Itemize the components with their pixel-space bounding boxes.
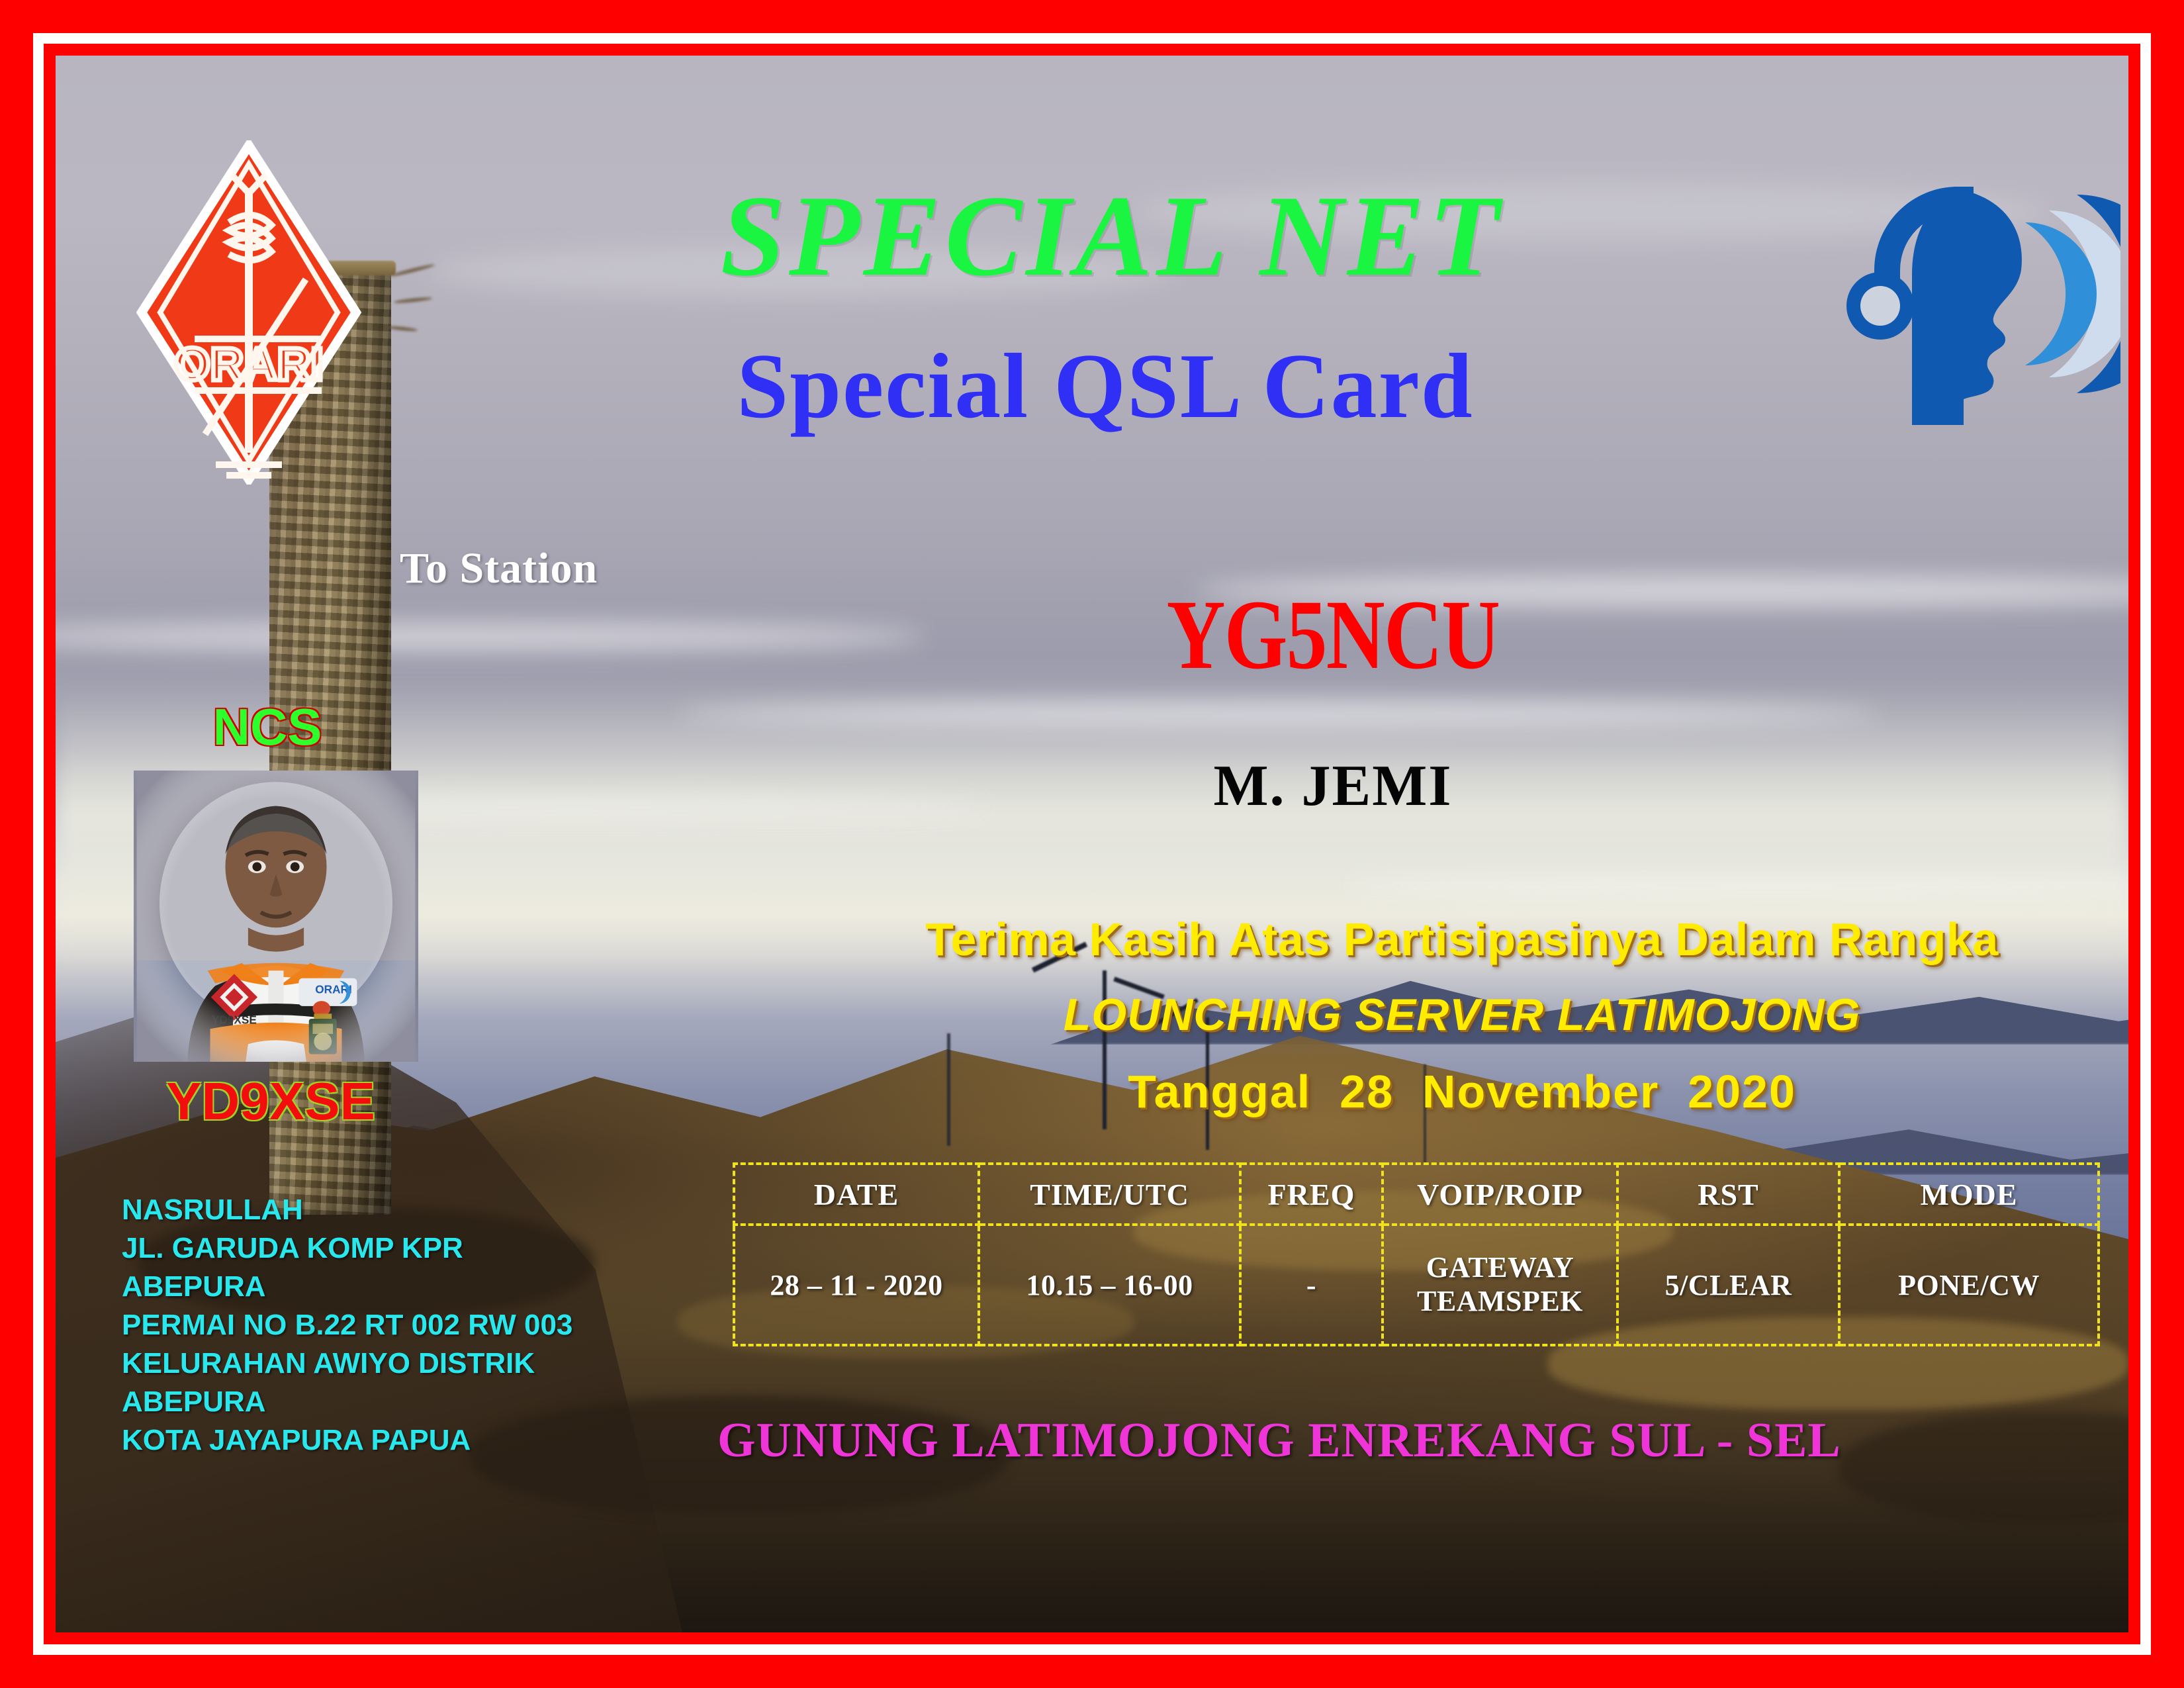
card-white-band: ORARI xyxy=(33,33,2151,1655)
address-line: KELURAHAN AWIYO DISTRIK xyxy=(122,1344,572,1383)
cloud-streak xyxy=(1341,876,2128,896)
qsl-card: ORARI xyxy=(0,0,2184,1688)
address-line: ABEPURA xyxy=(122,1268,572,1306)
cell-voip-roip: GATEWAY TEAMSPEK xyxy=(1383,1225,1617,1345)
cell-date: 28 – 11 - 2020 xyxy=(734,1225,979,1345)
mailing-address: NASRULLAH JL. GARUDA KOMP KPR ABEPURA PE… xyxy=(122,1191,572,1460)
th-time: TIME/UTC xyxy=(979,1164,1240,1225)
station-callsign: YG5NCU xyxy=(1089,585,1577,684)
th-voip-roip: VOIP/ROIP xyxy=(1383,1164,1617,1225)
thanks-line: Terima Kasih Atas Partisipasinya Dalam R… xyxy=(817,916,2107,962)
event-date-line: Tanggal 28 November 2020 xyxy=(817,1068,2107,1115)
operator-name: M. JEMI xyxy=(969,757,1697,816)
ncs-operator-photo: YD9XSE ORARI xyxy=(134,771,418,1062)
address-line: JL. GARUDA KOMP KPR xyxy=(122,1229,572,1268)
table-row: 28 – 11 - 2020 10.15 – 16-00 - GATEWAY T… xyxy=(734,1225,2099,1345)
qso-log-table: DATE TIME/UTC FREQ VOIP/ROIP RST MODE 28… xyxy=(733,1162,2100,1346)
address-line: KOTA JAYAPURA PAPUA xyxy=(122,1421,572,1460)
cloud-streak xyxy=(678,702,1880,725)
ncs-label: NCS xyxy=(181,701,353,753)
table-header-row: DATE TIME/UTC FREQ VOIP/ROIP RST MODE xyxy=(734,1164,2099,1225)
th-date: DATE xyxy=(734,1164,979,1225)
address-line: NASRULLAH xyxy=(122,1191,572,1229)
page-title: SPECIAL NET xyxy=(56,178,2128,294)
card-photo-area: ORARI xyxy=(56,56,2128,1632)
th-rst: RST xyxy=(1617,1164,1839,1225)
cell-rst: 5/CLEAR xyxy=(1617,1225,1839,1345)
th-freq: FREQ xyxy=(1240,1164,1383,1225)
address-line: ABEPURA xyxy=(122,1383,572,1421)
cell-freq: - xyxy=(1240,1225,1383,1345)
card-inner-red-band: ORARI xyxy=(44,44,2140,1644)
ncs-callsign: YD9XSE xyxy=(128,1075,413,1128)
page-subtitle: Special QSL Card xyxy=(56,340,2128,433)
to-station-label: To Station xyxy=(400,547,598,590)
th-mode: MODE xyxy=(1839,1164,2099,1225)
address-line: PERMAI NO B.22 RT 002 RW 003 xyxy=(122,1306,572,1344)
cloud-streak xyxy=(56,624,926,650)
cell-time: 10.15 – 16-00 xyxy=(979,1225,1240,1345)
location-line: GUNUNG LATIMOJONG ENREKANG SUL - SEL xyxy=(651,1416,1975,1465)
cell-mode: PONE/CW xyxy=(1839,1225,2099,1345)
event-title-line: LOUNCHING SERVER LATIMOJONG xyxy=(817,992,2107,1037)
